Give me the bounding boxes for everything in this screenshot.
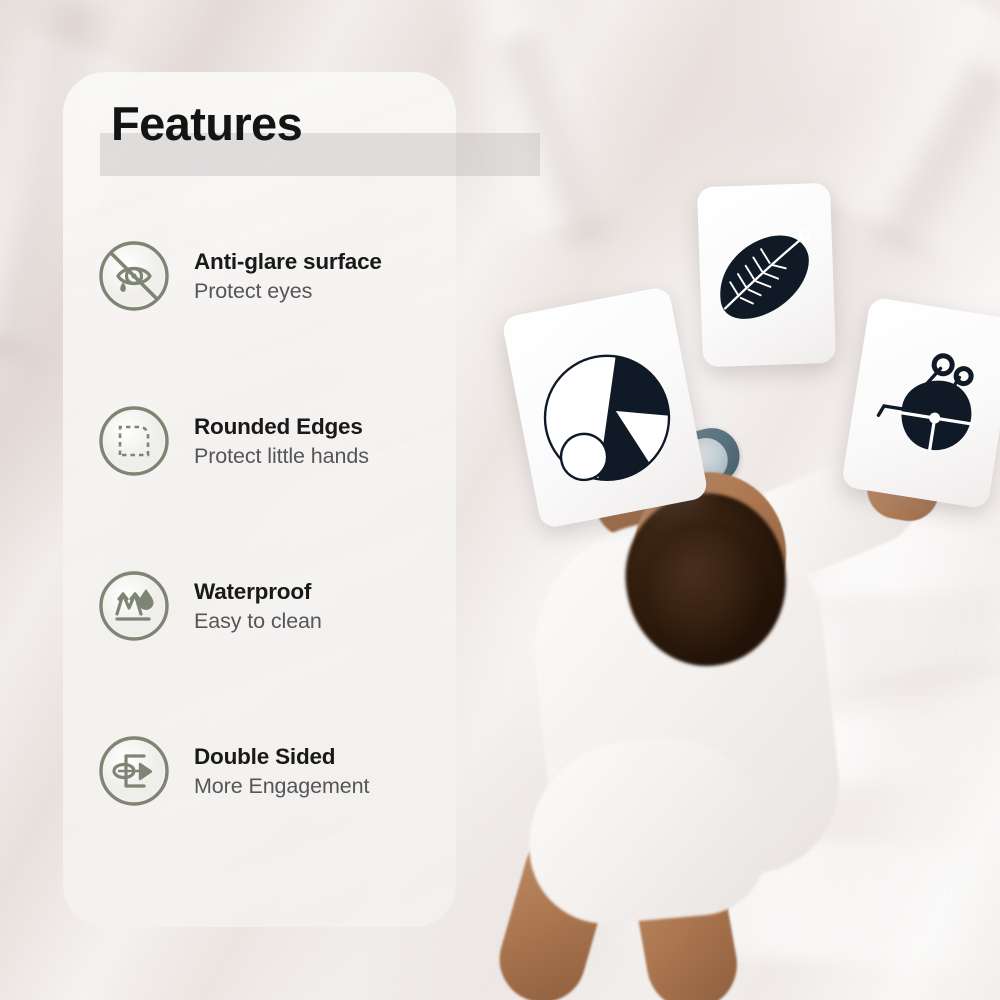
waterproof-droplet-icon	[96, 568, 172, 644]
baby-hair-curls	[640, 520, 770, 660]
feature-text-rounded-edges: Rounded Edges Protect little hands	[194, 411, 369, 471]
beetle-art	[841, 297, 1000, 510]
feature-item-waterproof[interactable]: Waterproof Easy to clean	[96, 566, 466, 646]
feature-item-rounded-edges[interactable]: Rounded Edges Protect little hands	[96, 401, 466, 481]
feature-title: Double Sided	[194, 743, 369, 771]
double-sided-flip-icon	[96, 733, 172, 809]
feature-subtitle: Easy to clean	[194, 608, 322, 636]
page-title: Features	[111, 100, 302, 147]
feature-subtitle: Protect eyes	[194, 278, 382, 306]
beetle-card[interactable]	[841, 297, 1000, 510]
leaf-card[interactable]	[697, 183, 836, 368]
feature-text-double-sided: Double Sided More Engagement	[194, 741, 369, 801]
feature-subtitle: Protect little hands	[194, 443, 369, 471]
feature-title: Rounded Edges	[194, 413, 369, 441]
feature-subtitle: More Engagement	[194, 773, 369, 801]
rounded-corner-icon	[96, 403, 172, 479]
leaf-art	[697, 183, 836, 368]
feature-title: Waterproof	[194, 578, 322, 606]
feature-list: Anti-glare surface Protect eyes	[96, 236, 466, 896]
feature-item-double-sided[interactable]: Double Sided More Engagement	[96, 731, 466, 811]
feature-text-anti-glare: Anti-glare surface Protect eyes	[194, 246, 382, 306]
feature-item-anti-glare[interactable]: Anti-glare surface Protect eyes	[96, 236, 466, 316]
feature-text-waterproof: Waterproof Easy to clean	[194, 576, 322, 636]
feature-title: Anti-glare surface	[194, 248, 382, 276]
product-feature-image: Features	[0, 0, 1000, 1000]
anti-glare-eye-icon	[96, 238, 172, 314]
